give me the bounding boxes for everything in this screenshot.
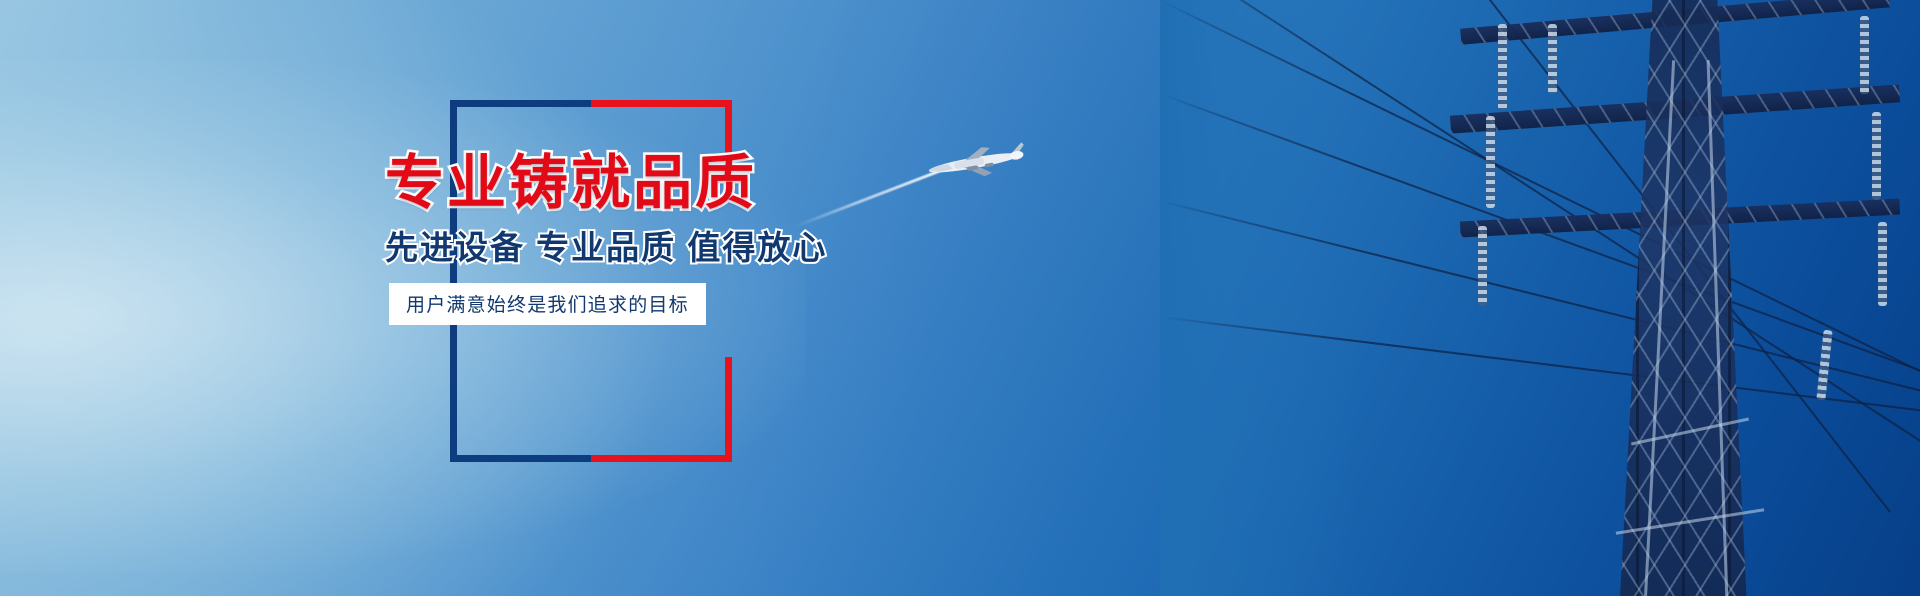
banner-subline: 先进设备 专业品质 值得放心 (385, 228, 1025, 268)
frame-border-top-left (450, 100, 591, 107)
frame-border-top-right (591, 100, 732, 107)
frame-border-right-lower (725, 357, 732, 462)
transmission-tower-image (1160, 0, 1920, 596)
frame-border-bottom-right (591, 455, 732, 462)
tower-edge-fade (1160, 0, 1920, 596)
hero-banner: 专业铸就品质 先进设备 专业品质 值得放心 用户满意始终是我们追求的目标 (0, 0, 1920, 596)
banner-headline: 专业铸就品质 (385, 152, 1025, 216)
frame-border-bottom-left (450, 455, 591, 462)
banner-tagline-text: 用户满意始终是我们追求的目标 (406, 295, 689, 316)
banner-tagline-box: 用户满意始终是我们追求的目标 (389, 283, 706, 325)
banner-copy: 专业铸就品质 先进设备 专业品质 值得放心 用户满意始终是我们追求的目标 (385, 152, 1025, 325)
